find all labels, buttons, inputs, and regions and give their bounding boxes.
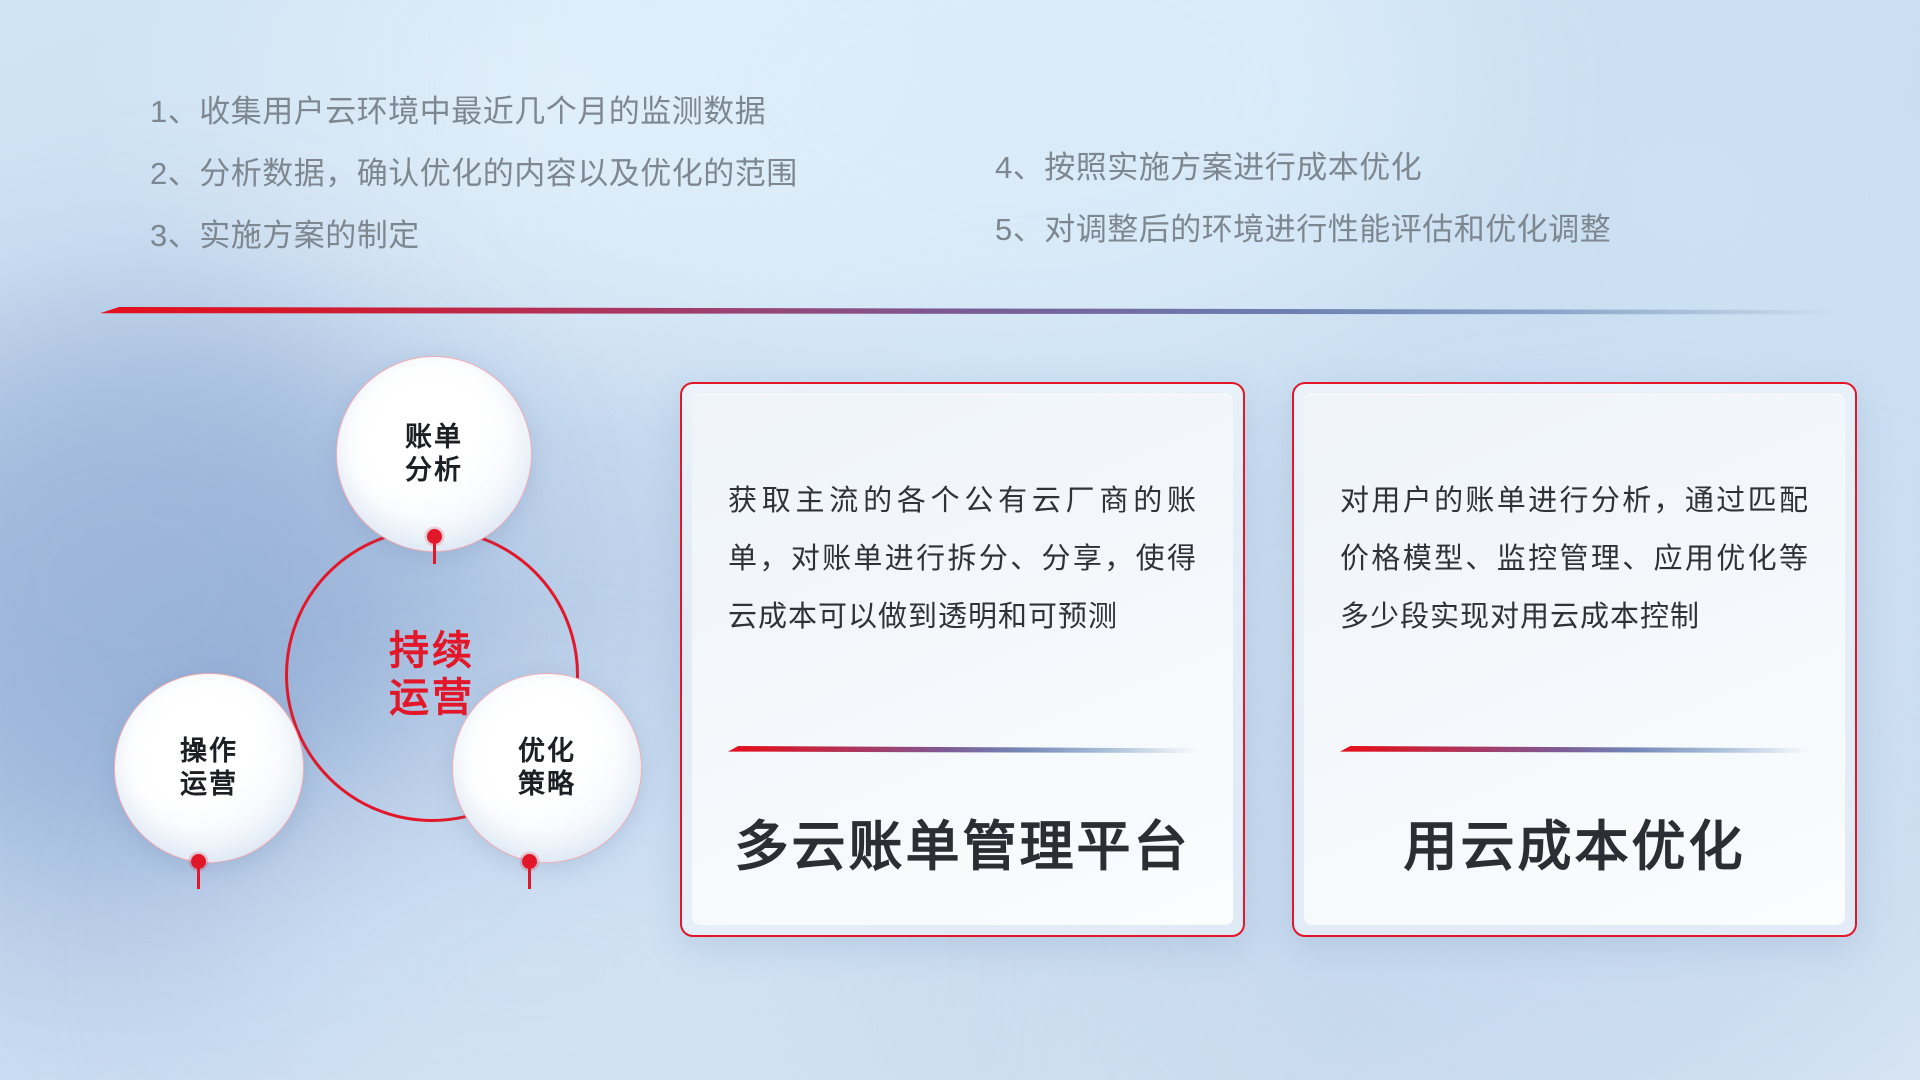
card-divider-rule [1340, 746, 1809, 755]
diagram-bubble-bill-analysis[interactable]: 账单 分析 [336, 356, 532, 552]
bubble-label-line-1: 操作 [180, 736, 238, 766]
card-divider-rule [728, 746, 1197, 755]
diagram-bubble-operations[interactable]: 操作 运营 [114, 673, 304, 863]
bubble-label-line-1: 优化 [518, 736, 576, 766]
feature-card-multi-cloud-billing-platform[interactable]: 获取主流的各个公有云厂商的账单，对账单进行拆分、分享，使得云成本可以做到透明和可… [680, 382, 1245, 937]
step-item-1: 1、收集用户云环境中最近几个月的监测数据 [150, 96, 798, 127]
bubble-label-line-2: 分析 [405, 455, 463, 485]
steps-column-right: 4、按照实施方案进行成本优化 5、对调整后的环境进行性能评估和优化调整 [995, 152, 1611, 276]
center-label-line-1: 持续 [389, 629, 475, 673]
diagram-bubble-optimization-strategy[interactable]: 优化 策略 [452, 673, 642, 863]
card-title: 多云账单管理平台 [692, 802, 1233, 881]
bubble-label-line-2: 运营 [180, 769, 238, 799]
card-body-text: 对用户的账单进行分析，通过匹配价格模型、监控管理、应用优化等多少段实现对用云成本… [1340, 472, 1809, 646]
step-item-3: 3、实施方案的制定 [150, 220, 798, 251]
step-item-4: 4、按照实施方案进行成本优化 [995, 152, 1611, 183]
diagram-node-stem-right [528, 867, 531, 889]
card-inner: 获取主流的各个公有云厂商的账单，对账单进行拆分、分享，使得云成本可以做到透明和可… [692, 394, 1233, 925]
section-divider-rule [100, 307, 1835, 317]
bubble-label-line-1: 账单 [405, 422, 463, 452]
bubble-label-line-2: 策略 [518, 769, 576, 799]
feature-card-cloud-cost-optimization[interactable]: 对用户的账单进行分析，通过匹配价格模型、监控管理、应用优化等多少段实现对用云成本… [1292, 382, 1857, 937]
cycle-diagram: 持续 运营 账单 分析 操作 运营 优化 策略 [98, 358, 638, 918]
center-label-line-2: 运营 [389, 676, 475, 720]
step-item-5: 5、对调整后的环境进行性能评估和优化调整 [995, 214, 1611, 245]
diagram-node-stem-left [197, 867, 200, 889]
card-title: 用云成本优化 [1304, 802, 1845, 881]
steps-column-left: 1、收集用户云环境中最近几个月的监测数据 2、分析数据，确认优化的内容以及优化的… [150, 96, 798, 282]
step-item-2: 2、分析数据，确认优化的内容以及优化的范围 [150, 158, 798, 189]
card-body-text: 获取主流的各个公有云厂商的账单，对账单进行拆分、分享，使得云成本可以做到透明和可… [728, 472, 1197, 646]
diagram-node-stem-top [433, 542, 436, 564]
card-inner: 对用户的账单进行分析，通过匹配价格模型、监控管理、应用优化等多少段实现对用云成本… [1304, 394, 1845, 925]
